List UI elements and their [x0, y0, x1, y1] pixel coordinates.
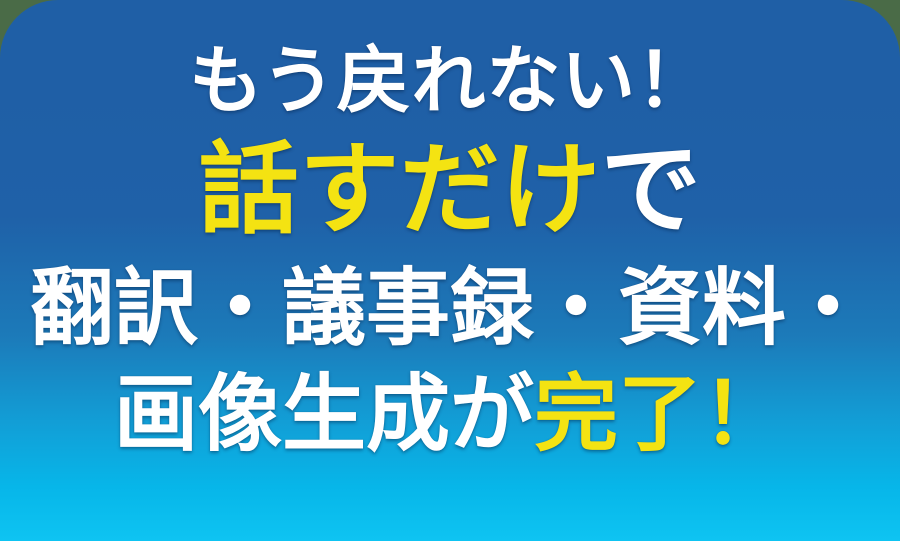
headline-line-4-segment-1: 画像生成が — [114, 365, 534, 463]
headline-line-2-segment-2: で — [601, 131, 702, 248]
headline-line-1-segment-1: もう戻れない！ — [189, 38, 711, 124]
headline-line-3-segment-1: 翻訳・議事録・資料・ — [30, 259, 870, 357]
headline-line-1: もう戻れない！ — [189, 44, 711, 118]
headline-line-3: 翻訳・議事録・資料・ — [30, 266, 870, 350]
headline-stack: もう戻れない！ 話すだけで 翻訳・議事録・資料・ 画像生成が完了！ — [0, 0, 900, 456]
headline-line-2-segment-1: 話すだけ — [199, 131, 601, 248]
promo-banner: もう戻れない！ 話すだけで 翻訳・議事録・資料・ 画像生成が完了！ — [0, 0, 900, 541]
headline-line-4-segment-2: 完了！ — [534, 365, 786, 463]
headline-line-4: 画像生成が完了！ — [114, 372, 786, 456]
headline-line-2: 話すだけで — [199, 140, 702, 240]
